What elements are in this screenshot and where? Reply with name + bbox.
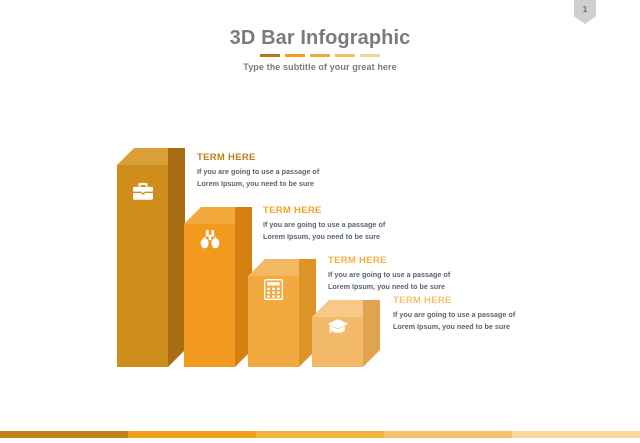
footer-segment-1 <box>0 431 128 438</box>
footer-color-strip <box>0 431 640 438</box>
graduation-cap-icon <box>312 313 363 339</box>
term-title-1: TERM HERE <box>197 152 372 163</box>
term-title-3: TERM HERE <box>328 255 503 266</box>
bar-column-1[interactable]: TERM HERE If you are going to use a pass… <box>117 148 185 367</box>
term-body-line1-3: If you are going to use a passage of <box>328 269 503 280</box>
term-block-1: TERM HERE If you are going to use a pass… <box>197 152 372 189</box>
bar-chart: TERM HERE If you are going to use a pass… <box>0 0 640 443</box>
briefcase-icon <box>117 178 168 204</box>
term-body-3: If you are going to use a passage of Lor… <box>328 269 503 291</box>
term-body-4: If you are going to use a passage of Lor… <box>393 309 568 331</box>
term-block-2: TERM HERE If you are going to use a pass… <box>263 205 438 242</box>
bar-side-face-4 <box>363 300 380 367</box>
term-body-line2-1: Lorem Ipsum, you need to be sure <box>197 178 372 189</box>
calculator-icon <box>248 276 299 302</box>
term-title-4: TERM HERE <box>393 295 568 306</box>
footer-segment-4 <box>384 431 512 438</box>
term-body-line1-2: If you are going to use a passage of <box>263 219 438 230</box>
term-body-line2-3: Lorem Ipsum, you need to be sure <box>328 281 503 292</box>
bar-side-face-1 <box>168 148 185 367</box>
term-block-3: TERM HERE If you are going to use a pass… <box>328 255 503 292</box>
footer-segment-2 <box>128 431 256 438</box>
binoculars-icon <box>184 226 235 252</box>
term-body-line2-4: Lorem Ipsum, you need to be sure <box>393 321 568 332</box>
term-body-2: If you are going to use a passage of Lor… <box>263 219 438 241</box>
slide-canvas: 1 3D Bar Infographic Type the subtitle o… <box>0 0 640 443</box>
term-body-line1-4: If you are going to use a passage of <box>393 309 568 320</box>
term-title-2: TERM HERE <box>263 205 438 216</box>
bar-column-2[interactable]: TERM HERE If you are going to use a pass… <box>184 207 252 367</box>
term-body-line2-2: Lorem Ipsum, you need to be sure <box>263 231 438 242</box>
term-body-1: If you are going to use a passage of Lor… <box>197 166 372 188</box>
term-body-line1-1: If you are going to use a passage of <box>197 166 372 177</box>
term-block-4: TERM HERE If you are going to use a pass… <box>393 295 568 332</box>
footer-segment-3 <box>256 431 384 438</box>
footer-segment-5 <box>512 431 640 438</box>
bar-column-3[interactable]: TERM HERE If you are going to use a pass… <box>248 259 316 367</box>
bar-column-4[interactable]: TERM HERE If you are going to use a pass… <box>312 300 380 367</box>
